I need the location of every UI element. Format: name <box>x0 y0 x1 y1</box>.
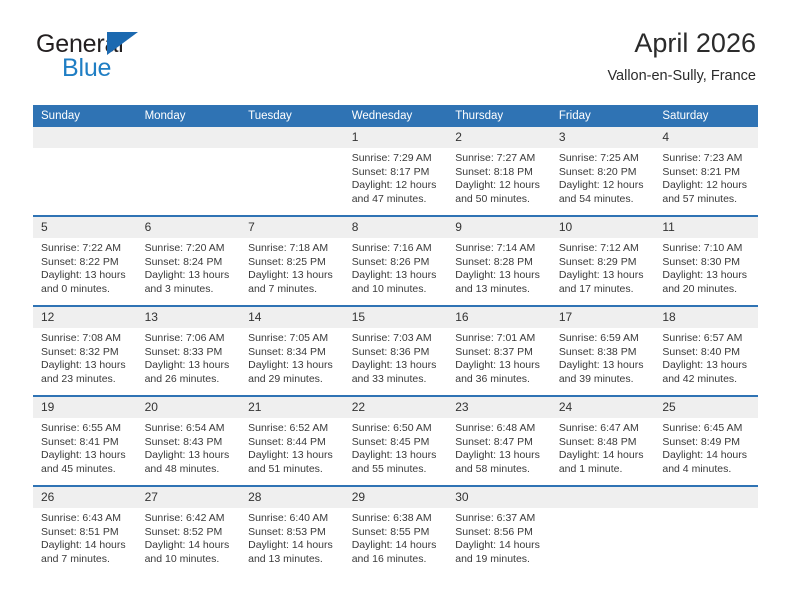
daylight-text-line1: Daylight: 14 hours <box>352 539 442 553</box>
daylight-text-line1: Daylight: 14 hours <box>559 449 649 463</box>
sunset-text: Sunset: 8:48 PM <box>559 436 649 450</box>
daylight-text-line1: Daylight: 13 hours <box>662 269 752 283</box>
day-details: Sunrise: 6:42 AM Sunset: 8:52 PM Dayligh… <box>137 508 241 566</box>
daylight-text-line2: and 1 minute. <box>559 463 649 477</box>
daylight-text-line1: Daylight: 12 hours <box>455 179 545 193</box>
day-cell[interactable]: 8 Sunrise: 7:16 AM Sunset: 8:26 PM Dayli… <box>344 216 448 306</box>
day-number: 29 <box>344 487 448 508</box>
page-subtitle: Vallon-en-Sully, France <box>607 66 756 86</box>
day-number: 12 <box>33 307 137 328</box>
sunset-text: Sunset: 8:20 PM <box>559 166 649 180</box>
day-number: 17 <box>551 307 655 328</box>
sunset-text: Sunset: 8:38 PM <box>559 346 649 360</box>
sunrise-text: Sunrise: 7:20 AM <box>145 242 235 256</box>
sunrise-text: Sunrise: 7:03 AM <box>352 332 442 346</box>
day-cell[interactable]: 6 Sunrise: 7:20 AM Sunset: 8:24 PM Dayli… <box>137 216 241 306</box>
day-cell[interactable] <box>137 127 241 216</box>
day-number: 26 <box>33 487 137 508</box>
day-number: 22 <box>344 397 448 418</box>
daylight-text-line1: Daylight: 13 hours <box>455 269 545 283</box>
day-cell[interactable]: 29 Sunrise: 6:38 AM Sunset: 8:55 PM Dayl… <box>344 486 448 575</box>
day-number: 6 <box>137 217 241 238</box>
daylight-text-line2: and 58 minutes. <box>455 463 545 477</box>
sunrise-text: Sunrise: 6:47 AM <box>559 422 649 436</box>
weekday-header-thursday: Thursday <box>447 105 551 127</box>
day-number: 9 <box>447 217 551 238</box>
brand-name-blue: Blue <box>62 54 111 83</box>
day-number: 7 <box>240 217 344 238</box>
day-cell[interactable]: 1 Sunrise: 7:29 AM Sunset: 8:17 PM Dayli… <box>344 127 448 216</box>
daylight-text-line2: and 33 minutes. <box>352 373 442 387</box>
day-number: 19 <box>33 397 137 418</box>
sunset-text: Sunset: 8:29 PM <box>559 256 649 270</box>
day-cell[interactable]: 7 Sunrise: 7:18 AM Sunset: 8:25 PM Dayli… <box>240 216 344 306</box>
daylight-text-line2: and 7 minutes. <box>41 553 131 567</box>
day-details: Sunrise: 7:06 AM Sunset: 8:33 PM Dayligh… <box>137 328 241 386</box>
day-number <box>240 127 344 148</box>
sunrise-text: Sunrise: 7:27 AM <box>455 152 545 166</box>
daylight-text-line1: Daylight: 13 hours <box>662 359 752 373</box>
day-details: Sunrise: 6:50 AM Sunset: 8:45 PM Dayligh… <box>344 418 448 476</box>
sunrise-text: Sunrise: 7:12 AM <box>559 242 649 256</box>
sunset-text: Sunset: 8:36 PM <box>352 346 442 360</box>
day-number: 15 <box>344 307 448 328</box>
sunset-text: Sunset: 8:53 PM <box>248 526 338 540</box>
daylight-text-line1: Daylight: 13 hours <box>145 359 235 373</box>
day-cell[interactable]: 14 Sunrise: 7:05 AM Sunset: 8:34 PM Dayl… <box>240 306 344 396</box>
weekday-header-saturday: Saturday <box>654 105 758 127</box>
sunset-text: Sunset: 8:55 PM <box>352 526 442 540</box>
sunrise-text: Sunrise: 7:16 AM <box>352 242 442 256</box>
day-number: 23 <box>447 397 551 418</box>
day-number: 10 <box>551 217 655 238</box>
daylight-text-line1: Daylight: 13 hours <box>145 269 235 283</box>
day-cell[interactable]: 13 Sunrise: 7:06 AM Sunset: 8:33 PM Dayl… <box>137 306 241 396</box>
day-details: Sunrise: 7:12 AM Sunset: 8:29 PM Dayligh… <box>551 238 655 296</box>
day-number: 3 <box>551 127 655 148</box>
day-cell[interactable]: 24 Sunrise: 6:47 AM Sunset: 8:48 PM Dayl… <box>551 396 655 486</box>
daylight-text-line1: Daylight: 13 hours <box>352 269 442 283</box>
day-number: 5 <box>33 217 137 238</box>
day-number: 24 <box>551 397 655 418</box>
sunrise-text: Sunrise: 6:48 AM <box>455 422 545 436</box>
day-details: Sunrise: 6:43 AM Sunset: 8:51 PM Dayligh… <box>33 508 137 566</box>
day-details: Sunrise: 7:03 AM Sunset: 8:36 PM Dayligh… <box>344 328 448 386</box>
day-number: 4 <box>654 127 758 148</box>
daylight-text-line2: and 0 minutes. <box>41 283 131 297</box>
sunset-text: Sunset: 8:30 PM <box>662 256 752 270</box>
day-number: 20 <box>137 397 241 418</box>
sunrise-text: Sunrise: 6:45 AM <box>662 422 752 436</box>
day-details: Sunrise: 7:14 AM Sunset: 8:28 PM Dayligh… <box>447 238 551 296</box>
sunrise-text: Sunrise: 7:29 AM <box>352 152 442 166</box>
daylight-text-line2: and 29 minutes. <box>248 373 338 387</box>
daylight-text-line1: Daylight: 12 hours <box>662 179 752 193</box>
page-title: April 2026 <box>607 26 756 60</box>
day-number: 13 <box>137 307 241 328</box>
sunrise-text: Sunrise: 7:01 AM <box>455 332 545 346</box>
sunset-text: Sunset: 8:40 PM <box>662 346 752 360</box>
day-details: Sunrise: 7:22 AM Sunset: 8:22 PM Dayligh… <box>33 238 137 296</box>
sunrise-text: Sunrise: 6:55 AM <box>41 422 131 436</box>
daylight-text-line1: Daylight: 13 hours <box>41 449 131 463</box>
daylight-text-line1: Daylight: 14 hours <box>145 539 235 553</box>
daylight-text-line1: Daylight: 13 hours <box>559 359 649 373</box>
daylight-text-line2: and 51 minutes. <box>248 463 338 477</box>
daylight-text-line2: and 55 minutes. <box>352 463 442 477</box>
sunrise-text: Sunrise: 7:08 AM <box>41 332 131 346</box>
sunrise-text: Sunrise: 6:50 AM <box>352 422 442 436</box>
sunrise-text: Sunrise: 7:22 AM <box>41 242 131 256</box>
day-details: Sunrise: 7:08 AM Sunset: 8:32 PM Dayligh… <box>33 328 137 386</box>
daylight-text-line2: and 26 minutes. <box>145 373 235 387</box>
sunset-text: Sunset: 8:56 PM <box>455 526 545 540</box>
day-cell[interactable]: 27 Sunrise: 6:42 AM Sunset: 8:52 PM Dayl… <box>137 486 241 575</box>
calendar-header-row: Sunday Monday Tuesday Wednesday Thursday… <box>33 105 758 127</box>
sunrise-text: Sunrise: 6:54 AM <box>145 422 235 436</box>
daylight-text-line1: Daylight: 13 hours <box>352 359 442 373</box>
day-number: 16 <box>447 307 551 328</box>
triangle-icon <box>107 32 138 55</box>
sunset-text: Sunset: 8:26 PM <box>352 256 442 270</box>
day-cell[interactable]: 2 Sunrise: 7:27 AM Sunset: 8:18 PM Dayli… <box>447 127 551 216</box>
weekday-header-wednesday: Wednesday <box>344 105 448 127</box>
day-details: Sunrise: 7:01 AM Sunset: 8:37 PM Dayligh… <box>447 328 551 386</box>
title-block: April 2026 Vallon-en-Sully, France <box>607 26 756 86</box>
daylight-text-line2: and 48 minutes. <box>145 463 235 477</box>
daylight-text-line2: and 13 minutes. <box>455 283 545 297</box>
day-cell[interactable] <box>33 127 137 216</box>
sunrise-text: Sunrise: 6:42 AM <box>145 512 235 526</box>
daylight-text-line1: Daylight: 13 hours <box>248 449 338 463</box>
daylight-text-line2: and 20 minutes. <box>662 283 752 297</box>
sunrise-text: Sunrise: 7:23 AM <box>662 152 752 166</box>
day-cell[interactable] <box>654 486 758 575</box>
sunset-text: Sunset: 8:32 PM <box>41 346 131 360</box>
daylight-text-line2: and 23 minutes. <box>41 373 131 387</box>
day-cell[interactable]: 22 Sunrise: 6:50 AM Sunset: 8:45 PM Dayl… <box>344 396 448 486</box>
day-cell[interactable]: 17 Sunrise: 6:59 AM Sunset: 8:38 PM Dayl… <box>551 306 655 396</box>
day-details: Sunrise: 6:59 AM Sunset: 8:38 PM Dayligh… <box>551 328 655 386</box>
day-number <box>33 127 137 148</box>
daylight-text-line2: and 16 minutes. <box>352 553 442 567</box>
day-cell[interactable]: 18 Sunrise: 6:57 AM Sunset: 8:40 PM Dayl… <box>654 306 758 396</box>
weekday-header-sunday: Sunday <box>33 105 137 127</box>
daylight-text-line1: Daylight: 14 hours <box>455 539 545 553</box>
day-cell[interactable]: 5 Sunrise: 7:22 AM Sunset: 8:22 PM Dayli… <box>33 216 137 306</box>
day-cell[interactable]: 23 Sunrise: 6:48 AM Sunset: 8:47 PM Dayl… <box>447 396 551 486</box>
daylight-text-line2: and 50 minutes. <box>455 193 545 207</box>
day-number: 11 <box>654 217 758 238</box>
day-number: 27 <box>137 487 241 508</box>
daylight-text-line1: Daylight: 13 hours <box>41 269 131 283</box>
brand-logo[interactable]: General Blue <box>36 30 176 82</box>
sunrise-text: Sunrise: 6:52 AM <box>248 422 338 436</box>
day-cell[interactable]: 26 Sunrise: 6:43 AM Sunset: 8:51 PM Dayl… <box>33 486 137 575</box>
day-details: Sunrise: 6:45 AM Sunset: 8:49 PM Dayligh… <box>654 418 758 476</box>
day-number: 28 <box>240 487 344 508</box>
day-details: Sunrise: 6:52 AM Sunset: 8:44 PM Dayligh… <box>240 418 344 476</box>
daylight-text-line1: Daylight: 13 hours <box>352 449 442 463</box>
day-number <box>137 127 241 148</box>
daylight-text-line2: and 19 minutes. <box>455 553 545 567</box>
daylight-text-line2: and 36 minutes. <box>455 373 545 387</box>
page-header: General Blue April 2026 Vallon-en-Sully,… <box>0 0 792 76</box>
day-cell[interactable]: 16 Sunrise: 7:01 AM Sunset: 8:37 PM Dayl… <box>447 306 551 396</box>
daylight-text-line2: and 4 minutes. <box>662 463 752 477</box>
sunset-text: Sunset: 8:28 PM <box>455 256 545 270</box>
daylight-text-line1: Daylight: 14 hours <box>662 449 752 463</box>
day-details: Sunrise: 6:57 AM Sunset: 8:40 PM Dayligh… <box>654 328 758 386</box>
daylight-text-line2: and 17 minutes. <box>559 283 649 297</box>
daylight-text-line2: and 39 minutes. <box>559 373 649 387</box>
daylight-text-line1: Daylight: 14 hours <box>248 539 338 553</box>
daylight-text-line1: Daylight: 13 hours <box>248 269 338 283</box>
day-details: Sunrise: 6:38 AM Sunset: 8:55 PM Dayligh… <box>344 508 448 566</box>
weekday-header-tuesday: Tuesday <box>240 105 344 127</box>
day-details: Sunrise: 7:10 AM Sunset: 8:30 PM Dayligh… <box>654 238 758 296</box>
day-cell[interactable]: 4 Sunrise: 7:23 AM Sunset: 8:21 PM Dayli… <box>654 127 758 216</box>
day-details: Sunrise: 7:16 AM Sunset: 8:26 PM Dayligh… <box>344 238 448 296</box>
sunrise-text: Sunrise: 6:43 AM <box>41 512 131 526</box>
day-details: Sunrise: 7:23 AM Sunset: 8:21 PM Dayligh… <box>654 148 758 206</box>
day-details: Sunrise: 6:40 AM Sunset: 8:53 PM Dayligh… <box>240 508 344 566</box>
day-details: Sunrise: 7:29 AM Sunset: 8:17 PM Dayligh… <box>344 148 448 206</box>
sunrise-text: Sunrise: 6:40 AM <box>248 512 338 526</box>
sunset-text: Sunset: 8:18 PM <box>455 166 545 180</box>
day-number: 25 <box>654 397 758 418</box>
daylight-text-line1: Daylight: 13 hours <box>455 359 545 373</box>
day-details: Sunrise: 6:48 AM Sunset: 8:47 PM Dayligh… <box>447 418 551 476</box>
sunset-text: Sunset: 8:22 PM <box>41 256 131 270</box>
sunset-text: Sunset: 8:34 PM <box>248 346 338 360</box>
sunset-text: Sunset: 8:21 PM <box>662 166 752 180</box>
calendar-week-row: 26 Sunrise: 6:43 AM Sunset: 8:51 PM Dayl… <box>33 486 758 575</box>
daylight-text-line1: Daylight: 12 hours <box>352 179 442 193</box>
day-details: Sunrise: 7:25 AM Sunset: 8:20 PM Dayligh… <box>551 148 655 206</box>
sunrise-text: Sunrise: 7:05 AM <box>248 332 338 346</box>
calendar-week-row: 5 Sunrise: 7:22 AM Sunset: 8:22 PM Dayli… <box>33 216 758 306</box>
weekday-header-friday: Friday <box>551 105 655 127</box>
day-cell[interactable]: 11 Sunrise: 7:10 AM Sunset: 8:30 PM Dayl… <box>654 216 758 306</box>
day-details: Sunrise: 7:27 AM Sunset: 8:18 PM Dayligh… <box>447 148 551 206</box>
day-details: Sunrise: 7:05 AM Sunset: 8:34 PM Dayligh… <box>240 328 344 386</box>
sunrise-text: Sunrise: 7:10 AM <box>662 242 752 256</box>
calendar-table: Sunday Monday Tuesday Wednesday Thursday… <box>33 105 758 575</box>
day-details: Sunrise: 6:37 AM Sunset: 8:56 PM Dayligh… <box>447 508 551 566</box>
day-details: Sunrise: 6:54 AM Sunset: 8:43 PM Dayligh… <box>137 418 241 476</box>
daylight-text-line2: and 45 minutes. <box>41 463 131 477</box>
daylight-text-line1: Daylight: 12 hours <box>559 179 649 193</box>
day-number: 18 <box>654 307 758 328</box>
day-cell[interactable]: 9 Sunrise: 7:14 AM Sunset: 8:28 PM Dayli… <box>447 216 551 306</box>
weekday-header-monday: Monday <box>137 105 241 127</box>
sunrise-text: Sunrise: 7:18 AM <box>248 242 338 256</box>
sunset-text: Sunset: 8:44 PM <box>248 436 338 450</box>
day-details: Sunrise: 7:18 AM Sunset: 8:25 PM Dayligh… <box>240 238 344 296</box>
sunset-text: Sunset: 8:43 PM <box>145 436 235 450</box>
day-cell[interactable]: 15 Sunrise: 7:03 AM Sunset: 8:36 PM Dayl… <box>344 306 448 396</box>
day-cell[interactable]: 10 Sunrise: 7:12 AM Sunset: 8:29 PM Dayl… <box>551 216 655 306</box>
day-cell[interactable]: 20 Sunrise: 6:54 AM Sunset: 8:43 PM Dayl… <box>137 396 241 486</box>
daylight-text-line1: Daylight: 13 hours <box>455 449 545 463</box>
daylight-text-line1: Daylight: 13 hours <box>41 359 131 373</box>
daylight-text-line1: Daylight: 13 hours <box>145 449 235 463</box>
day-number: 8 <box>344 217 448 238</box>
daylight-text-line1: Daylight: 14 hours <box>41 539 131 553</box>
day-cell[interactable] <box>551 486 655 575</box>
sunset-text: Sunset: 8:52 PM <box>145 526 235 540</box>
daylight-text-line2: and 10 minutes. <box>145 553 235 567</box>
day-details: Sunrise: 6:47 AM Sunset: 8:48 PM Dayligh… <box>551 418 655 476</box>
day-number <box>654 487 758 508</box>
sunrise-text: Sunrise: 6:38 AM <box>352 512 442 526</box>
daylight-text-line1: Daylight: 13 hours <box>559 269 649 283</box>
daylight-text-line2: and 7 minutes. <box>248 283 338 297</box>
sunset-text: Sunset: 8:17 PM <box>352 166 442 180</box>
sunset-text: Sunset: 8:33 PM <box>145 346 235 360</box>
day-cell[interactable] <box>240 127 344 216</box>
daylight-text-line2: and 57 minutes. <box>662 193 752 207</box>
daylight-text-line2: and 10 minutes. <box>352 283 442 297</box>
sunset-text: Sunset: 8:51 PM <box>41 526 131 540</box>
calendar-body: 1 Sunrise: 7:29 AM Sunset: 8:17 PM Dayli… <box>33 127 758 575</box>
sunrise-text: Sunrise: 7:06 AM <box>145 332 235 346</box>
day-cell[interactable]: 30 Sunrise: 6:37 AM Sunset: 8:56 PM Dayl… <box>447 486 551 575</box>
day-number: 2 <box>447 127 551 148</box>
day-cell[interactable]: 12 Sunrise: 7:08 AM Sunset: 8:32 PM Dayl… <box>33 306 137 396</box>
sunrise-text: Sunrise: 6:57 AM <box>662 332 752 346</box>
day-number: 30 <box>447 487 551 508</box>
day-cell[interactable]: 3 Sunrise: 7:25 AM Sunset: 8:20 PM Dayli… <box>551 127 655 216</box>
day-cell[interactable]: 28 Sunrise: 6:40 AM Sunset: 8:53 PM Dayl… <box>240 486 344 575</box>
sunset-text: Sunset: 8:37 PM <box>455 346 545 360</box>
daylight-text-line2: and 3 minutes. <box>145 283 235 297</box>
day-number <box>551 487 655 508</box>
calendar-week-row: 12 Sunrise: 7:08 AM Sunset: 8:32 PM Dayl… <box>33 306 758 396</box>
calendar-week-row: 19 Sunrise: 6:55 AM Sunset: 8:41 PM Dayl… <box>33 396 758 486</box>
sunset-text: Sunset: 8:25 PM <box>248 256 338 270</box>
day-cell[interactable]: 21 Sunrise: 6:52 AM Sunset: 8:44 PM Dayl… <box>240 396 344 486</box>
day-number: 14 <box>240 307 344 328</box>
day-number: 21 <box>240 397 344 418</box>
sunset-text: Sunset: 8:49 PM <box>662 436 752 450</box>
sunset-text: Sunset: 8:24 PM <box>145 256 235 270</box>
sunrise-text: Sunrise: 7:25 AM <box>559 152 649 166</box>
day-details: Sunrise: 7:20 AM Sunset: 8:24 PM Dayligh… <box>137 238 241 296</box>
day-cell[interactable]: 19 Sunrise: 6:55 AM Sunset: 8:41 PM Dayl… <box>33 396 137 486</box>
daylight-text-line2: and 47 minutes. <box>352 193 442 207</box>
daylight-text-line2: and 42 minutes. <box>662 373 752 387</box>
sunset-text: Sunset: 8:47 PM <box>455 436 545 450</box>
sunrise-text: Sunrise: 6:59 AM <box>559 332 649 346</box>
daylight-text-line2: and 13 minutes. <box>248 553 338 567</box>
daylight-text-line2: and 54 minutes. <box>559 193 649 207</box>
sunrise-text: Sunrise: 6:37 AM <box>455 512 545 526</box>
sunrise-text: Sunrise: 7:14 AM <box>455 242 545 256</box>
daylight-text-line1: Daylight: 13 hours <box>248 359 338 373</box>
day-cell[interactable]: 25 Sunrise: 6:45 AM Sunset: 8:49 PM Dayl… <box>654 396 758 486</box>
day-details: Sunrise: 6:55 AM Sunset: 8:41 PM Dayligh… <box>33 418 137 476</box>
sunset-text: Sunset: 8:45 PM <box>352 436 442 450</box>
day-number: 1 <box>344 127 448 148</box>
sunset-text: Sunset: 8:41 PM <box>41 436 131 450</box>
calendar-week-row: 1 Sunrise: 7:29 AM Sunset: 8:17 PM Dayli… <box>33 127 758 216</box>
